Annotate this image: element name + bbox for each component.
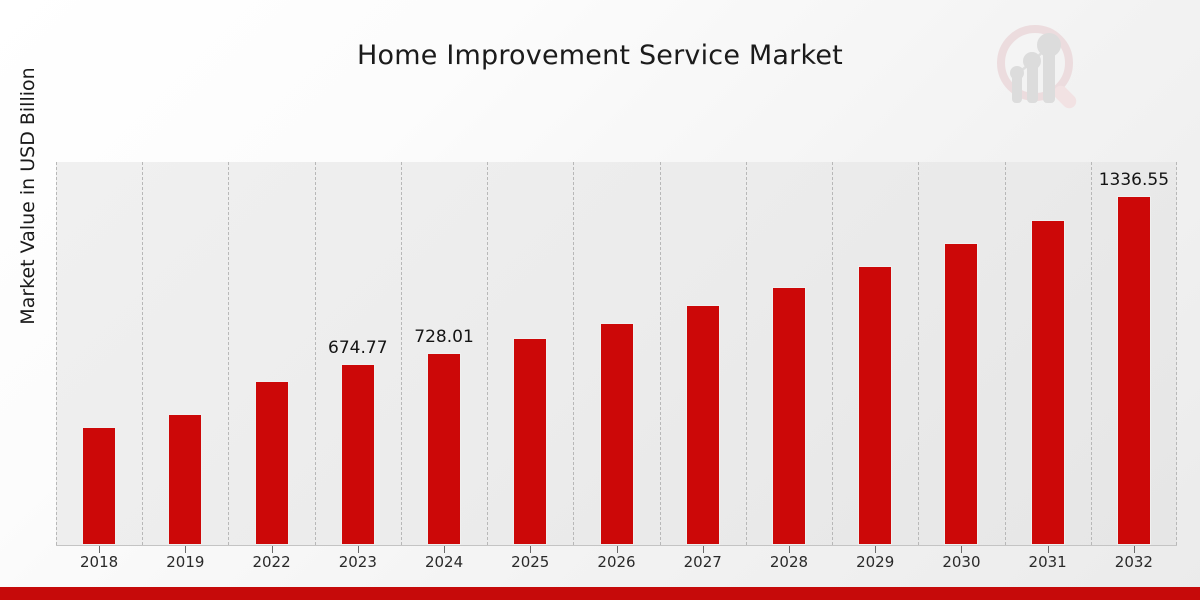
plot-area — [56, 162, 1177, 545]
gridline — [142, 162, 144, 545]
x-tick-2031 — [1048, 546, 1049, 553]
gridline — [1005, 162, 1007, 545]
x-tick-2023 — [358, 546, 359, 553]
bar-2019[interactable] — [168, 414, 202, 545]
x-tick-2019 — [185, 546, 186, 553]
x-tick-label-2018: 2018 — [80, 553, 118, 571]
market-research-magnifier-logo — [985, 18, 1095, 118]
gridline — [918, 162, 920, 545]
bar-2024[interactable] — [427, 353, 461, 545]
x-tick-2029 — [875, 546, 876, 553]
gridline — [660, 162, 662, 545]
bar-2030[interactable] — [944, 243, 978, 545]
x-tick-label-2029: 2029 — [856, 553, 894, 571]
x-tick-label-2019: 2019 — [166, 553, 204, 571]
x-tick-label-2027: 2027 — [684, 553, 722, 571]
x-tick-2018 — [99, 546, 100, 553]
x-tick-label-2024: 2024 — [425, 553, 463, 571]
gridline — [746, 162, 748, 545]
x-tick-label-2031: 2031 — [1029, 553, 1067, 571]
x-tick-2026 — [617, 546, 618, 553]
x-tick-2028 — [789, 546, 790, 553]
gridline — [1091, 162, 1093, 545]
x-tick-2032 — [1134, 546, 1135, 553]
bar-2026[interactable] — [600, 323, 634, 545]
gridline — [487, 162, 489, 545]
x-tick-2025 — [530, 546, 531, 553]
x-tick-label-2032: 2032 — [1115, 553, 1153, 571]
x-tick-label-2022: 2022 — [252, 553, 290, 571]
logo-icon — [985, 18, 1095, 118]
gridline — [832, 162, 834, 545]
x-tick-label-2028: 2028 — [770, 553, 808, 571]
bar-value-label-2023: 674.77 — [328, 338, 387, 358]
x-tick-2022 — [272, 546, 273, 553]
y-axis-title: Market Value in USD Billion — [17, 0, 39, 396]
x-tick-label-2030: 2030 — [942, 553, 980, 571]
chart-figure: Home Improvement Service Market Market V… — [0, 0, 1200, 600]
gridline — [573, 162, 575, 545]
bar-2032[interactable] — [1117, 196, 1151, 545]
bar-2028[interactable] — [772, 287, 806, 545]
bar-2031[interactable] — [1031, 220, 1065, 545]
x-tick-label-2023: 2023 — [339, 553, 377, 571]
x-tick-2024 — [444, 546, 445, 553]
bar-2023[interactable] — [341, 364, 375, 545]
gridline — [228, 162, 230, 545]
bar-2029[interactable] — [858, 266, 892, 545]
gridline — [315, 162, 317, 545]
bar-2018[interactable] — [82, 427, 116, 545]
x-tick-label-2026: 2026 — [597, 553, 635, 571]
gridline — [56, 162, 58, 545]
x-tick-2030 — [961, 546, 962, 553]
x-tick-2027 — [703, 546, 704, 553]
gridline — [1176, 162, 1178, 545]
x-tick-label-2025: 2025 — [511, 553, 549, 571]
bar-2027[interactable] — [686, 305, 720, 545]
bottom-accent-strip — [0, 587, 1200, 600]
bar-2025[interactable] — [513, 338, 547, 545]
bar-2022[interactable] — [255, 381, 289, 545]
gridline — [401, 162, 403, 545]
bar-value-label-2032: 1336.55 — [1099, 170, 1169, 190]
bar-value-label-2024: 728.01 — [414, 327, 473, 347]
